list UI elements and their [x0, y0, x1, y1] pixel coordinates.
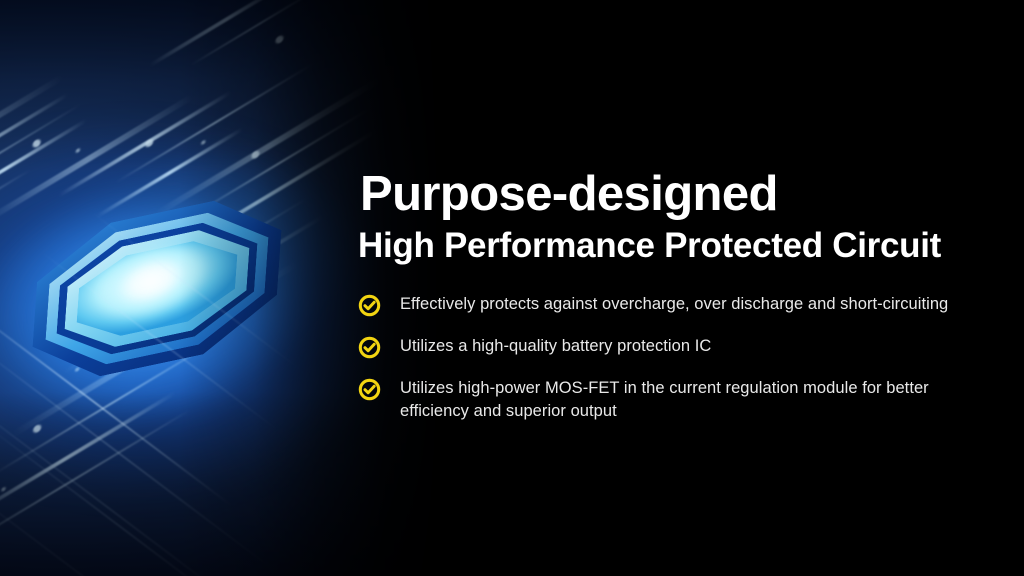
check-circle-icon: [358, 294, 381, 317]
page-title: Purpose-designed: [360, 170, 778, 219]
check-circle-icon: [358, 378, 381, 401]
list-item-label: Effectively protects against overcharge,…: [400, 293, 948, 316]
check-circle-icon: [358, 336, 381, 359]
list-item: Utilizes a high-quality battery protecti…: [358, 335, 958, 359]
feature-bullet-list: Effectively protects against overcharge,…: [358, 293, 958, 424]
list-item: Utilizes high-power MOS-FET in the curre…: [358, 377, 958, 424]
text-content-column: Purpose-designed High Performance Protec…: [358, 0, 978, 576]
list-item-label: Utilizes high-power MOS-FET in the curre…: [400, 377, 945, 424]
list-item: Effectively protects against overcharge,…: [358, 293, 958, 317]
page-subtitle: High Performance Protected Circuit: [358, 228, 941, 263]
slide-root: Purpose-designed High Performance Protec…: [0, 0, 1024, 576]
list-item-label: Utilizes a high-quality battery protecti…: [400, 335, 711, 358]
